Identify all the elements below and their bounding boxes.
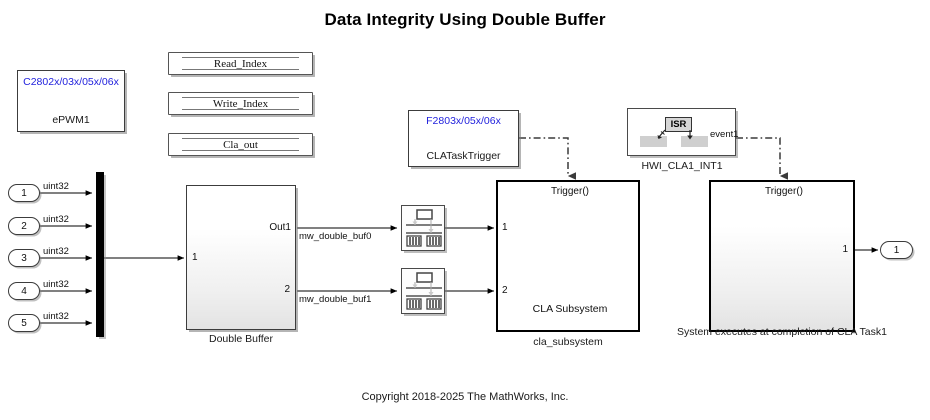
inport-number: 3 (21, 253, 27, 264)
block-task1-subsystem[interactable]: Trigger() 1 (709, 180, 855, 332)
double-buffer-in-port-number: 1 (192, 252, 198, 263)
inport-4[interactable]: 4 (8, 282, 40, 300)
memory-copy-icon (402, 269, 446, 315)
inport-5[interactable]: 5 (8, 314, 40, 332)
inport-1[interactable]: 1 (8, 184, 40, 202)
double-buffer-out2-label: 2 (284, 284, 290, 295)
inport-number: 2 (21, 221, 27, 232)
block-hwi-cla1-int1[interactable]: ISR event1 (627, 108, 736, 156)
inport-number: 1 (21, 188, 27, 199)
page-title: Data Integrity Using Double Buffer (0, 10, 930, 30)
cla-task-trigger-name-label: CLATaskTrigger (409, 150, 518, 162)
block-cla-subsystem[interactable]: Trigger() 1 2 CLA Subsystem (496, 180, 640, 332)
data-store-cla-out[interactable]: Cla_out (168, 133, 313, 156)
signal-label-buf1: mw_double_buf1 (299, 294, 371, 305)
inport-number: 4 (21, 286, 27, 297)
task1-subsystem-trigger-label: Trigger() (711, 186, 857, 197)
memory-copy-icon (402, 206, 446, 252)
double-buffer-caption: Double Buffer (186, 333, 296, 345)
epwm1-name-label: ePWM1 (18, 114, 124, 126)
task1-subsystem-out1-number: 1 (842, 244, 848, 255)
signal-label-buf0: mw_double_buf0 (299, 231, 371, 242)
inport-number: 5 (21, 318, 27, 329)
dsm-rule-bottom (182, 150, 299, 151)
copyright-text: Copyright 2018-2025 The MathWorks, Inc. (0, 391, 930, 403)
dsm-rule-bottom (182, 109, 299, 110)
dsm-rule-bottom (182, 69, 299, 70)
block-double-buffer[interactable]: 1 Out1 2 (186, 185, 296, 330)
data-store-label: Read_Index (169, 58, 312, 70)
signal-type-label: uint32 (43, 246, 69, 257)
memory-copy-block-2[interactable] (401, 268, 445, 314)
data-store-read-index[interactable]: Read_Index (168, 52, 313, 75)
hwi-caption: HWI_CLA1_INT1 (612, 160, 752, 172)
signal-type-label: uint32 (43, 214, 69, 225)
data-store-write-index[interactable]: Write_Index (168, 92, 313, 115)
signal-type-label: uint32 (43, 311, 69, 322)
inport-2[interactable]: 2 (8, 217, 40, 235)
signal-type-label: uint32 (43, 279, 69, 290)
data-store-label: Write_Index (169, 98, 312, 110)
inport-3[interactable]: 3 (8, 249, 40, 267)
hwi-event-label: event1 (710, 129, 739, 140)
double-buffer-out1-label: Out1 (269, 222, 291, 233)
cla-subsystem-inner-label: CLA Subsystem (498, 303, 642, 315)
mux-block[interactable] (96, 172, 104, 337)
signal-type-label: uint32 (43, 181, 69, 192)
cla-subsystem-in1-number: 1 (502, 222, 508, 233)
epwm1-device-label: C2802x/03x/05x/06x (18, 76, 124, 88)
memory-copy-block-1[interactable] (401, 205, 445, 251)
block-cla-task-trigger[interactable]: F2803x/05x/06x CLATaskTrigger (408, 110, 519, 167)
outport-1[interactable]: 1 (880, 241, 913, 259)
outport-number: 1 (894, 245, 900, 256)
block-epwm1[interactable]: C2802x/03x/05x/06x ePWM1 (17, 70, 125, 132)
task1-subsystem-caption: System executes at completion of CLA Tas… (672, 326, 892, 338)
cla-subsystem-in2-number: 2 (502, 285, 508, 296)
cla-subsystem-trigger-label: Trigger() (498, 186, 642, 197)
cla-subsystem-caption: cla_subsystem (496, 336, 640, 348)
data-store-label: Cla_out (169, 139, 312, 151)
cla-task-trigger-device-label: F2803x/05x/06x (409, 115, 518, 127)
